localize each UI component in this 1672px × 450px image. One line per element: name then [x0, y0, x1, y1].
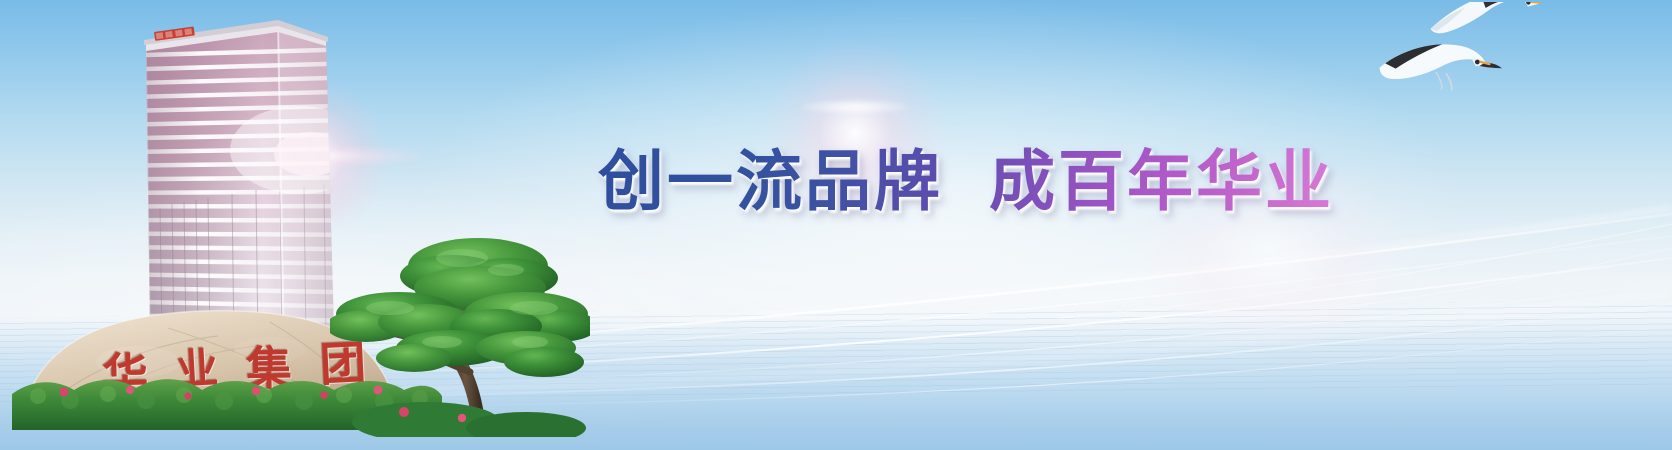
- seagull-group: [1370, 2, 1560, 117]
- headline-right-phrase: 成百年华业: [989, 149, 1334, 215]
- headline-left-phrase: 创一流品牌: [598, 149, 943, 215]
- banner-headline: 创一流品牌 成百年华业: [598, 140, 1334, 224]
- seagull-icon-1: [1426, 2, 1542, 35]
- bonsai-pine-tree: [330, 222, 590, 437]
- sun-glow-ray-icon: [800, 100, 910, 114]
- seagull-icon-2: [1378, 40, 1503, 96]
- company-hero-banner: 华 业 集 团: [0, 0, 1672, 450]
